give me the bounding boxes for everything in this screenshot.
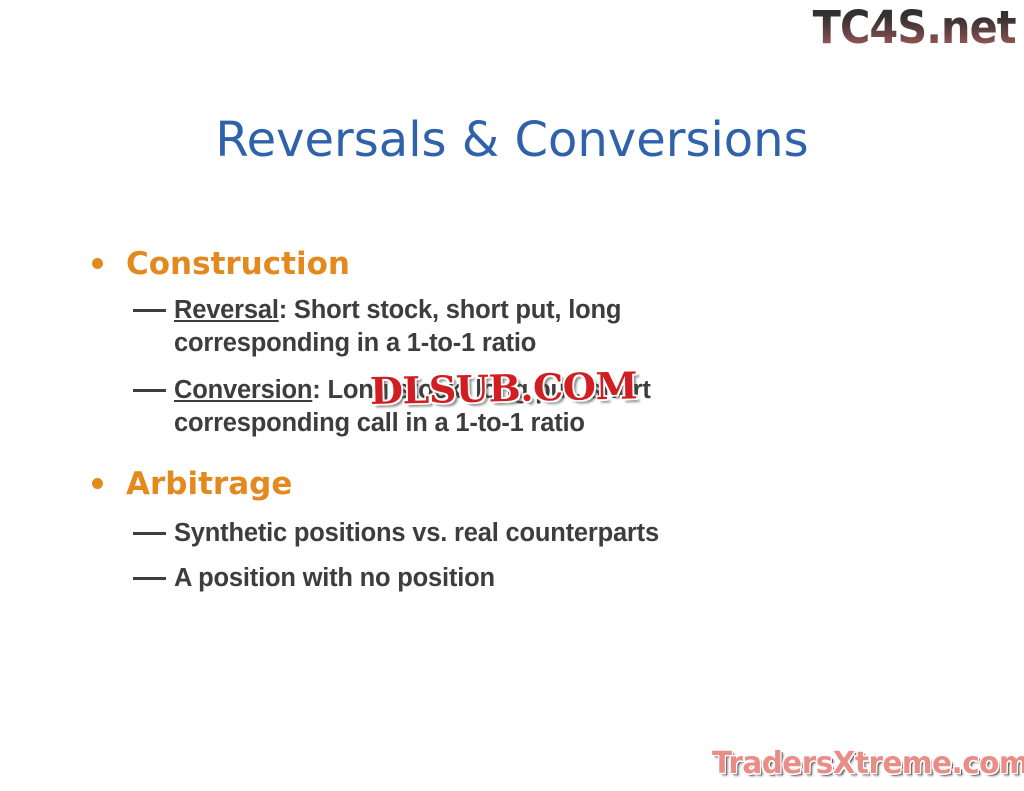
sub-bullet-position-with-no-position: A position with no position	[84, 562, 964, 595]
sub-bullet-reversal-line2: corresponding in a 1-to-1 ratio	[174, 329, 536, 357]
bullet-arbitrage: Arbitrage	[84, 463, 964, 505]
bullet-construction-label: Construction	[126, 246, 350, 282]
sub-bullet-conversion-line2: corresponding call in a 1-to-1 ratio	[174, 409, 585, 437]
dlsub-watermark: DLSUB.COM	[370, 365, 638, 411]
bullet-dot-icon	[92, 258, 103, 269]
em-dash-icon	[133, 389, 166, 392]
em-dash-icon	[133, 309, 166, 312]
bullet-dot-icon	[92, 478, 103, 489]
slide-body: Construction Reversal: Short stock, shor…	[84, 243, 964, 595]
em-dash-icon	[133, 577, 166, 580]
bullet-construction: Construction	[84, 243, 964, 285]
slide-canvas: TC4S.net Reversals & Conversions Constru…	[0, 0, 1024, 791]
bullet-arbitrage-label: Arbitrage	[126, 466, 292, 502]
sub-bullet-reversal-lead: Reversal	[174, 296, 279, 324]
sub-bullet-synthetic-positions: Synthetic positions vs. real counterpart…	[84, 517, 964, 550]
sub-bullet-position-with-no-position-text: A position with no position	[174, 564, 495, 592]
sub-bullet-conversion-lead: Conversion	[174, 376, 312, 404]
em-dash-icon	[133, 532, 166, 535]
tradersxtreme-watermark: TradersXtreme.com	[712, 745, 1024, 783]
sub-bullet-synthetic-positions-text: Synthetic positions vs. real counterpart…	[174, 519, 659, 547]
slide-title: Reversals & Conversions	[0, 111, 1024, 169]
tc4s-brand-logo: TC4S.net	[813, 2, 1016, 54]
sub-bullet-reversal: Reversal: Short stock, short put, long c…	[84, 294, 964, 360]
sub-bullet-reversal-line1: : Short stock, short put, long	[279, 296, 621, 324]
